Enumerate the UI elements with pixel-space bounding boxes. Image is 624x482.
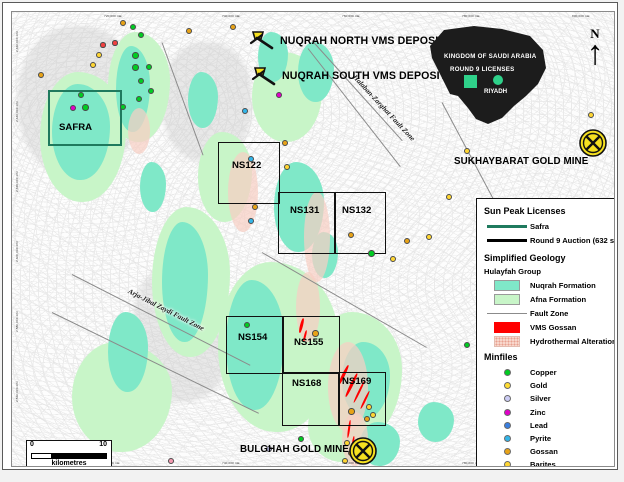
legend-item-gold: Gold	[484, 379, 615, 392]
minfile-dot-gossan[interactable]	[364, 416, 370, 422]
legend-dot-silver	[484, 395, 530, 402]
legend-item-copper: Copper	[484, 366, 615, 379]
mine-label-sukhaybarat: SUKHAYBARAT GOLD MINE	[454, 156, 588, 167]
legend-dot-barites	[484, 461, 530, 467]
mine-label-bulghah: BULGHAH GOLD MINE	[240, 444, 349, 455]
vms-deposit-symbol-nuqrah-south[interactable]	[250, 64, 278, 88]
vms-deposit-symbol-nuqrah-north[interactable]	[248, 28, 276, 52]
grid-label-y: 2,640,000 mN	[613, 101, 615, 122]
legend-item-nuqrah-formation: Nuqrah Formation	[484, 279, 615, 292]
license-label-ns155: NS155	[294, 337, 323, 348]
legend-label-copper: Copper	[530, 368, 557, 377]
legend-item-barites: Barites	[484, 458, 615, 467]
grid-label-x: 800,000 mE	[572, 14, 590, 18]
legend-item-fault-zone: Fault Zone	[484, 307, 615, 320]
grid-label-y: 2,640,000 mN	[15, 101, 19, 122]
license-block-ns131[interactable]	[278, 192, 336, 254]
minfile-dot-gossan[interactable]	[348, 232, 354, 238]
legend-heading-minfiles: Minfiles	[484, 352, 615, 362]
legend-label-barites: Barites	[530, 460, 556, 467]
minfile-dot-copper[interactable]	[244, 322, 250, 328]
legend-item-vms-gossan: VMS Gossan	[484, 321, 615, 334]
minfile-dot-iron[interactable]	[168, 458, 174, 464]
legend-swatch-nuqrah-formation	[484, 280, 530, 291]
legend-swatch-safra	[484, 225, 530, 228]
legend-dot-gossan	[484, 448, 530, 455]
inset-city-label: RIYADH	[484, 88, 507, 95]
legend-dot-gold	[484, 382, 530, 389]
minfile-dot-gossan[interactable]	[230, 24, 236, 30]
minfile-dot-gossan[interactable]	[120, 20, 126, 26]
inset-country-label: KINGDOM OF SAUDI ARABIA	[444, 53, 537, 60]
grid-label-x: 740,000 mE	[222, 14, 240, 18]
minfile-dot-gossan[interactable]	[312, 330, 319, 337]
safra-label: SAFRA	[59, 122, 92, 133]
minfile-dot-gossan[interactable]	[38, 72, 44, 78]
grid-label-y: 2,620,000 mN	[15, 171, 19, 192]
legend-label-vms-gossan: VMS Gossan	[530, 323, 576, 332]
grid-label-x: 720,000 mE	[104, 14, 122, 18]
minfile-dot-barites[interactable]	[366, 404, 372, 410]
grid-label-x: 740,000 mE	[222, 461, 240, 465]
minfile-dot-copper[interactable]	[138, 32, 144, 38]
gold-mine-symbol-sukhaybarat[interactable]	[578, 128, 608, 158]
minfile-dot-gossan[interactable]	[252, 204, 258, 210]
minfile-dot-pyrite[interactable]	[242, 108, 248, 114]
legend-dot-copper	[484, 369, 530, 376]
minfile-dot-barites[interactable]	[90, 62, 96, 68]
legend-swatch-afna-formation	[484, 294, 530, 305]
legend-heading-geology: Simplified Geology	[484, 253, 615, 263]
legend-swatch-alteration-zone	[484, 336, 530, 347]
minfile-dot-copper[interactable]	[146, 64, 152, 70]
legend-item-alteration-zone: Hydrothermal Alteration Zone	[484, 335, 615, 348]
scale-bar-unit: kilometres	[27, 460, 111, 467]
legend-heading-licenses: Sun Peak Licenses	[484, 206, 615, 216]
scale-bar-max: 10	[99, 441, 107, 448]
map-figure: Halaban-Zarghat Fault Zone Arja-Jibal Za…	[0, 0, 624, 482]
legend-item-pyrite: Pyrite	[484, 432, 615, 445]
legend-label-silver: Silver	[530, 394, 551, 403]
minfile-dot-copper[interactable]	[298, 436, 304, 442]
inset-license-swatch	[464, 75, 477, 88]
minfile-dot-copper[interactable]	[78, 92, 84, 98]
saudi-arabia-landmass	[410, 20, 566, 128]
inset-riyadh-dot	[493, 75, 503, 85]
minfile-dot-zinc[interactable]	[70, 105, 76, 111]
minfile-dot-copper[interactable]	[130, 24, 136, 30]
legend-dot-zinc	[484, 409, 530, 416]
grid-label-y: 2,600,000 mN	[15, 241, 19, 262]
license-label-ns122: NS122	[232, 160, 261, 171]
license-label-ns132: NS132	[342, 205, 371, 216]
license-label-ns131: NS131	[290, 205, 319, 216]
figure-frame: Halaban-Zarghat Fault Zone Arja-Jibal Za…	[2, 2, 618, 470]
north-arrow: N ↑	[578, 28, 612, 84]
minfile-dot-zinc[interactable]	[276, 92, 282, 98]
minfile-dot-copper[interactable]	[148, 88, 154, 94]
minfile-dot-barites[interactable]	[96, 52, 102, 58]
minfile-dot-barites[interactable]	[426, 234, 432, 240]
legend-swatch-vms-gossan	[484, 322, 530, 333]
grid-label-x: 760,000 mE	[342, 461, 360, 465]
minfile-dot-barites[interactable]	[446, 194, 452, 200]
map-canvas[interactable]: Halaban-Zarghat Fault Zone Arja-Jibal Za…	[12, 12, 614, 466]
scale-bar-min: 0	[30, 441, 34, 448]
legend-label-round9: Round 9 Auction (632 sq km)	[530, 236, 615, 245]
license-block-ns154[interactable]	[226, 316, 284, 374]
minfile-dot-copper[interactable]	[368, 250, 375, 257]
minfile-dot-gossan[interactable]	[282, 140, 288, 146]
map-neatline: Halaban-Zarghat Fault Zone Arja-Jibal Za…	[11, 11, 615, 467]
legend-label-fault-zone: Fault Zone	[530, 309, 568, 318]
legend-subheading-hulayfah: Hulayfah Group	[484, 267, 615, 276]
minfile-dot-copper[interactable]	[464, 342, 470, 348]
license-label-ns168: NS168	[292, 378, 321, 389]
minfile-dot-pyrite[interactable]	[248, 218, 254, 224]
minfile-dot-iron[interactable]	[100, 42, 106, 48]
legend-item-round9: Round 9 Auction (632 sq km)	[484, 234, 615, 247]
grid-label-y: 2,660,000 mN	[613, 31, 615, 52]
minfile-dot-copper[interactable]	[136, 96, 142, 102]
north-arrow-glyph: ↑	[578, 39, 612, 69]
minfile-dot-gossan[interactable]	[348, 408, 355, 415]
legend-label-afna-formation: Afna Formation	[530, 295, 586, 304]
legend-label-nuqrah-formation: Nuqrah Formation	[530, 281, 596, 290]
legend-label-pyrite: Pyrite	[530, 434, 551, 443]
legend-label-safra: Safra	[530, 222, 549, 231]
minfile-dot-copper[interactable]	[132, 52, 139, 59]
legend-dot-pyrite	[484, 435, 530, 442]
legend-label-zinc: Zinc	[530, 408, 546, 417]
legend-item-gossan: Gossan	[484, 445, 615, 458]
legend-item-zinc: Zinc	[484, 406, 615, 419]
legend-swatch-round9	[484, 239, 530, 241]
minfile-dot-barites[interactable]	[464, 148, 470, 154]
scale-bar: 0 10 kilometres	[26, 440, 112, 467]
minfile-dot-barites[interactable]	[284, 164, 290, 170]
legend-label-alteration-zone: Hydrothermal Alteration Zone	[530, 337, 615, 346]
minfile-dot-barites[interactable]	[390, 256, 396, 262]
license-block-ns122[interactable]	[218, 142, 280, 204]
grid-label-y: 2,660,000 mN	[15, 31, 19, 52]
minfile-dot-gossan[interactable]	[186, 28, 192, 34]
map-legend[interactable]: Sun Peak Licenses Safra Round 9 Auction …	[476, 198, 615, 467]
minfile-dot-copper[interactable]	[82, 104, 89, 111]
license-label-ns169: NS169	[342, 376, 371, 387]
minfile-dot-iron[interactable]	[112, 40, 118, 46]
legend-item-safra: Safra	[484, 220, 615, 233]
legend-dot-lead	[484, 422, 530, 429]
grid-label-y: 2,560,000 mN	[15, 381, 19, 402]
legend-label-gossan: Gossan	[530, 447, 558, 456]
safra-license-box[interactable]	[48, 90, 122, 146]
grid-label-y: 2,580,000 mN	[15, 311, 19, 332]
grid-label-y: 2,620,000 mN	[613, 171, 615, 192]
inset-licenses-label: ROUND 9 LICENSES	[450, 66, 515, 73]
grid-label-x: 760,000 mE	[342, 14, 360, 18]
saudi-arabia-inset-map[interactable]: KINGDOM OF SAUDI ARABIA ROUND 9 LICENSES…	[410, 20, 566, 128]
legend-item-lead: Lead	[484, 419, 615, 432]
minfile-dot-pyrite[interactable]	[248, 156, 254, 162]
license-block-ns132[interactable]	[334, 192, 386, 254]
minfile-dot-copper[interactable]	[120, 104, 126, 110]
grid-label-x: 780,000 mE	[462, 14, 480, 18]
scale-bar-graphic	[31, 453, 107, 459]
legend-item-silver: Silver	[484, 392, 615, 405]
legend-label-lead: Lead	[530, 421, 548, 430]
hydrothermal-alteration-zone	[128, 108, 150, 154]
minfile-dot-barites[interactable]	[370, 412, 376, 418]
legend-swatch-fault-zone	[484, 313, 530, 314]
legend-item-afna-formation: Afna Formation	[484, 293, 615, 306]
minfile-dot-barites[interactable]	[588, 112, 594, 118]
license-label-ns154: NS154	[238, 332, 267, 343]
minfile-dot-copper[interactable]	[138, 78, 144, 84]
legend-label-gold: Gold	[530, 381, 547, 390]
minfile-dot-gossan[interactable]	[404, 238, 410, 244]
minfile-dot-copper[interactable]	[132, 64, 139, 71]
